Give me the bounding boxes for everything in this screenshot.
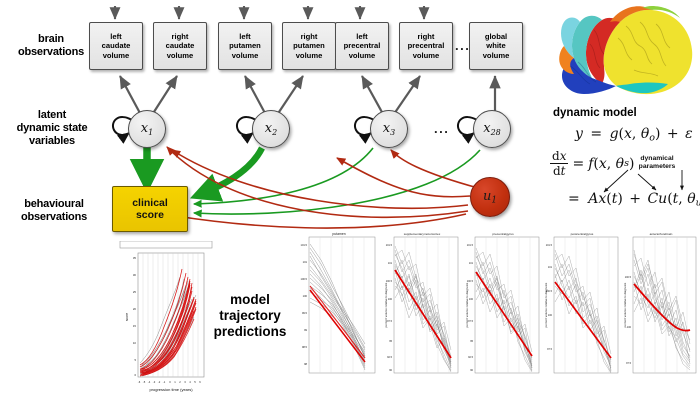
svg-text:percent volume relative to dia: percent volume relative to diagnosis [544,282,548,327]
svg-text:-2: -2 [158,380,161,384]
svg-text:101: 101 [388,262,393,265]
row-label-brain-line2: observations [12,46,90,59]
state-to-observation-arrows [120,76,495,115]
svg-text:5: 5 [194,380,196,384]
svg-text:100.5: 100.5 [467,280,474,283]
annotation-pointer-arrows [600,168,690,202]
node-label-x1: x1 [141,121,153,137]
obs-line1: left [102,32,131,41]
observation-box-global-white[interactable]: global white volume [469,22,523,70]
observation-box-left-precentral[interactable]: left precentral volume [335,22,389,70]
svg-text:101: 101 [548,266,553,269]
brain-render [556,4,698,102]
clinical-score-box[interactable]: clinical score [112,186,188,232]
obs-line2: white [483,41,510,50]
node-label-x3: x3 [383,121,395,137]
svg-text:10: 10 [133,341,137,345]
derivative-fraction: dx dt [550,150,568,177]
svg-text:2: 2 [179,380,181,384]
svg-text:99: 99 [304,328,307,332]
observation-input-arrows [115,6,424,19]
obs-line1: left [229,32,261,41]
svg-text:100: 100 [548,314,553,317]
obs-line1: global [483,32,510,41]
svg-text:92.5: 92.5 [387,356,392,359]
row-label-behaviour-line2: observations [6,211,102,224]
self-loop-arrows [113,117,477,135]
obs-line3: volume [483,51,510,60]
svg-text:25: 25 [133,290,137,294]
svg-text:-6: -6 [138,380,141,384]
chart-putamen[interactable]: putamen [295,230,377,380]
observation-box-left-putamen[interactable]: left putamen volume [218,22,272,70]
chart-clinical-score-trajectory[interactable]: 3530 2520 1510 50 -6-5 -4-3 -2-1 01 23 4… [112,241,220,409]
panel-title: postcentralgyrus [571,232,594,236]
obs-line2: putamen [229,41,261,50]
svg-text:-1: -1 [163,380,166,384]
row-label-brain: brain observations [12,33,90,59]
svg-text:90: 90 [470,369,473,372]
chart-supplementarymotorcortex[interactable]: supplementarymotorcortex [378,230,460,380]
dynamic-model-title: dynamic model [553,107,637,119]
svg-text:0: 0 [134,373,136,377]
chart-precentralgyrus[interactable]: precentralgyrus [459,230,541,380]
latent-node-x28[interactable]: x28 [473,110,511,148]
row-label-brain-line1: brain [12,33,90,46]
svg-text:-3: -3 [153,380,156,384]
obs-line2: precentral [344,41,381,50]
panel-title: anteriorforebrain [650,232,673,236]
panel-title: supplementarymotorcortex [404,232,441,236]
obs-line2: caudate [166,41,195,50]
latent-node-ellipsis: ... [434,121,449,136]
input-node-u1[interactable]: u1 [470,177,510,217]
svg-text:100.5: 100.5 [301,277,308,281]
row-label-behaviour-line1: behavioural [6,198,102,211]
latent-node-x3[interactable]: x3 [370,110,408,148]
svg-text:percent volume relative to dia: percent volume relative to diagnosis [465,282,469,327]
equation-observation: y = g(x, θo) + ε [575,126,693,144]
obs-line3: volume [166,51,195,60]
obs-line2: precentral [408,41,445,50]
svg-text:101: 101 [303,260,308,264]
node-label-u1: u1 [483,189,497,205]
svg-text:97.5: 97.5 [626,362,631,365]
svg-text:101.5: 101.5 [301,243,308,247]
obs-line3: volume [293,51,325,60]
observation-box-right-putamen[interactable]: right putamen volume [282,22,336,70]
svg-text:percent volume relative to dia: percent volume relative to diagnosis [623,282,627,327]
row-label-latent-line2: dynamic state [6,122,98,135]
svg-text:90: 90 [389,369,392,372]
svg-text:1: 1 [174,380,176,384]
svg-text:101.5: 101.5 [546,244,553,247]
observation-box-right-precentral[interactable]: right precentral volume [399,22,453,70]
svg-text:progression time (years): progression time (years) [149,387,193,392]
row-label-behaviour: behavioural observations [6,198,102,224]
observation-box-left-caudate[interactable]: left caudate volume [89,22,143,70]
latent-node-x1[interactable]: x1 [128,110,166,148]
svg-text:20: 20 [133,307,137,311]
svg-text:101: 101 [469,262,474,265]
obs-line1: right [293,32,325,41]
figure-canvas: brain observations latent dynamic state … [0,0,700,413]
svg-text:percent volume relative to dia: percent volume relative to diagnosis [384,282,388,327]
svg-text:100: 100 [627,326,632,329]
obs-line3: volume [229,51,261,60]
observation-box-right-caudate[interactable]: right caudate volume [153,22,207,70]
obs-line3: volume [344,51,381,60]
svg-text:-5: -5 [143,380,146,384]
obs-line1: right [408,32,445,41]
svg-text:30: 30 [133,273,137,277]
clinical-score-line2: score [132,209,168,222]
obs-line1: right [166,32,195,41]
chart-postcentralgyrus[interactable]: postcentralgyrus 101.5101 [538,230,620,380]
row-label-latent: latent dynamic state variables [6,109,98,148]
panel-title: putamen [332,232,345,236]
svg-text:-4: -4 [148,380,151,384]
clinical-score-line1: clinical [132,197,168,210]
obs-line2: caudate [102,41,131,50]
svg-text:4: 4 [189,380,191,384]
row-label-latent-line3: variables [6,135,98,148]
svg-text:35: 35 [133,256,137,260]
obs-line1: left [344,32,381,41]
chart-anteriorforebrain[interactable]: anteriorforebrain [617,230,699,380]
svg-text:6: 6 [199,380,201,384]
svg-text:95: 95 [470,340,473,343]
row-label-latent-line1: latent [6,109,98,122]
node-label-x28: x28 [483,121,501,137]
latent-node-x2[interactable]: x2 [252,110,290,148]
svg-text:100.5: 100.5 [625,276,632,279]
svg-text:score: score [125,313,129,321]
svg-text:97.5: 97.5 [547,348,552,351]
annotation-line1: dynamical [628,155,686,163]
obs-line2: putamen [293,41,325,50]
svg-text:100: 100 [303,294,308,298]
svg-text:92.5: 92.5 [468,356,473,359]
panel-title: precentralgyrus [492,232,514,236]
svg-text:101.5: 101.5 [386,244,393,247]
obs-line3: volume [408,51,445,60]
svg-text:95: 95 [389,340,392,343]
svg-text:0: 0 [169,380,171,384]
svg-text:101.5: 101.5 [467,244,474,247]
node-label-x2: x2 [265,121,277,137]
obs-line3: volume [102,51,131,60]
svg-text:3: 3 [184,380,186,384]
svg-text:5: 5 [134,358,136,362]
svg-text:99.5: 99.5 [302,311,308,315]
svg-text:100: 100 [469,298,474,301]
svg-text:15: 15 [133,324,137,328]
observation-ellipsis: ... [455,38,470,53]
svg-text:100.5: 100.5 [386,280,393,283]
svg-text:98: 98 [304,362,307,366]
svg-text:98.5: 98.5 [302,345,308,349]
svg-text:100: 100 [388,298,393,301]
